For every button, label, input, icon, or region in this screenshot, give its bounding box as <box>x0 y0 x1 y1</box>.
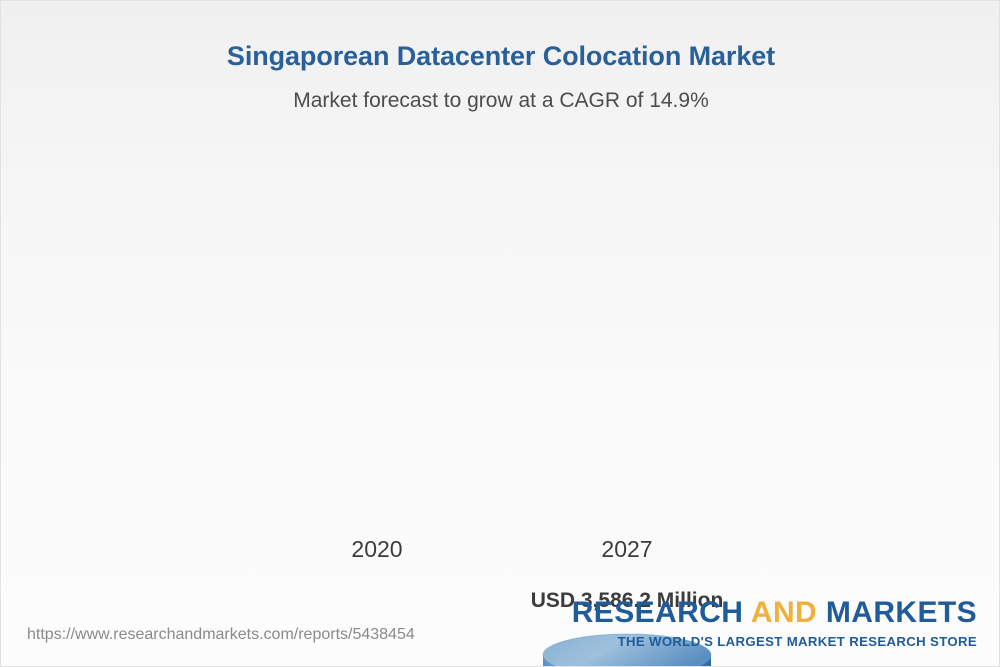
brand-word-and: AND <box>751 596 817 629</box>
brand-word-research: RESEARCH <box>572 596 744 629</box>
year-label-2020: 2020 <box>351 536 402 563</box>
brand-word-markets: MARKETS <box>826 596 977 629</box>
infographic-canvas: Singaporean Datacenter Colocation Market… <box>0 0 1000 667</box>
brand-tagline: THE WORLD'S LARGEST MARKET RESEARCH STOR… <box>572 635 977 648</box>
page-title: Singaporean Datacenter Colocation Market <box>1 41 1000 72</box>
source-url[interactable]: https://www.researchandmarkets.com/repor… <box>27 626 415 644</box>
chart-plot-area: USD 1,355.2 Million <box>1 141 1000 571</box>
chart-subtitle: Market forecast to grow at a CAGR of 14.… <box>1 89 1000 113</box>
brand-wordmark: RESEARCH AND MARKETS <box>572 598 977 628</box>
brand-logo: RESEARCH AND MARKETS THE WORLD'S LARGEST… <box>572 598 977 648</box>
year-label-2027: 2027 <box>601 536 652 563</box>
